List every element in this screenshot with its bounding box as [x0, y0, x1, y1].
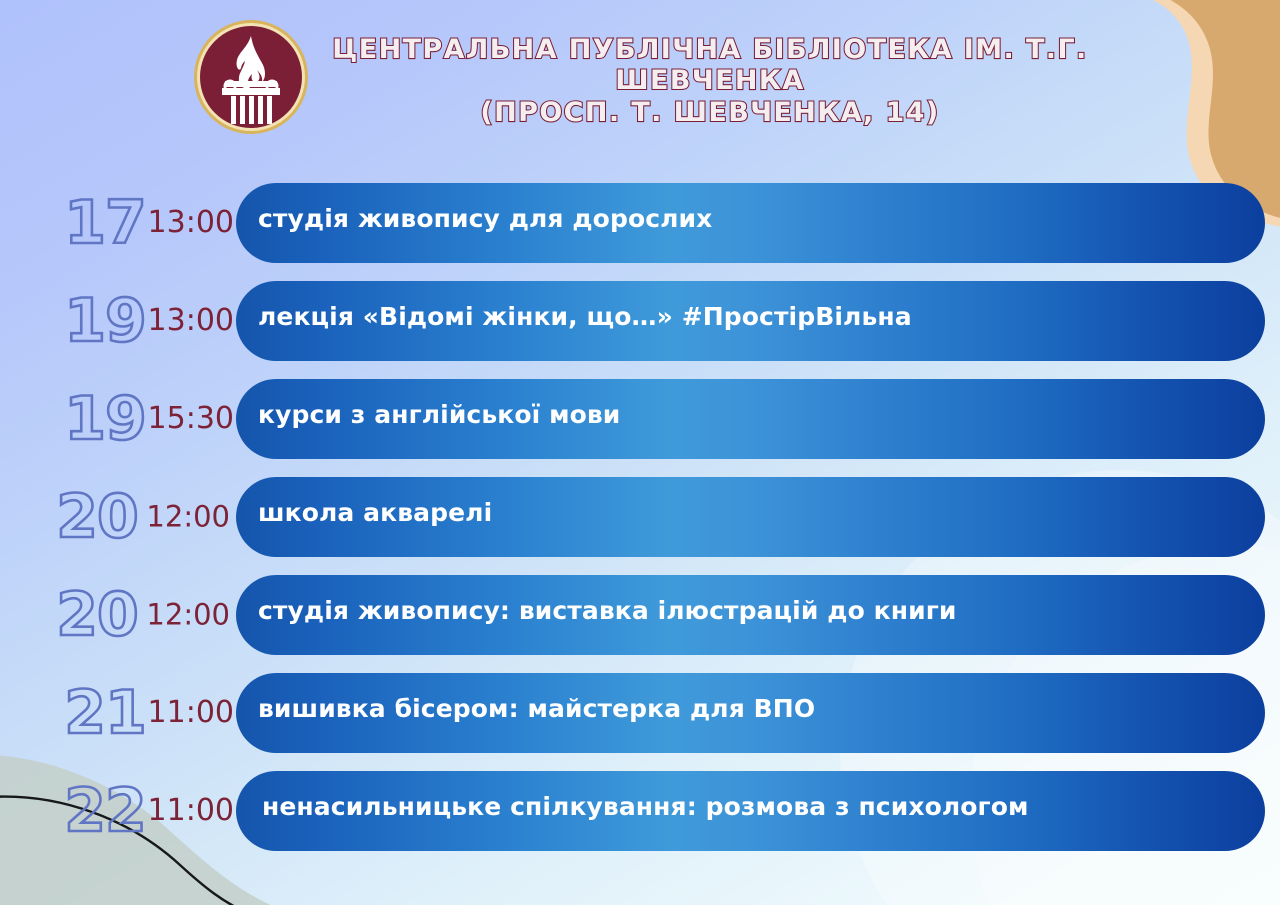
event-title: курси з англійської мови [236, 401, 650, 430]
event-title: лекція «Відомі жінки, що…» #ПростірВільн… [236, 303, 942, 332]
event-time: 11:00 [130, 698, 234, 728]
page-title: ЦЕНТРАЛЬНА ПУБЛІЧНА БІБЛІОТЕКА ІМ. Т.Г. … [332, 34, 1087, 128]
event-pill[interactable]: школа акварелі [236, 477, 1265, 557]
schedule-row[interactable]: 19 15:30 курси з англійської мови [0, 379, 1280, 459]
schedule-row[interactable]: 21 11:00 вишивка бісером: майстерка для … [0, 673, 1280, 753]
page-title-line-1: ЦЕНТРАЛЬНА ПУБЛІЧНА БІБЛІОТЕКА ІМ. Т.Г. [332, 34, 1087, 65]
schedule-row[interactable]: 20 12:00 студія живопису: виставка ілюст… [0, 575, 1280, 655]
library-column-flame-logo-icon [192, 18, 310, 136]
event-title: ненасильницьке спілкування: розмова з пс… [236, 793, 1059, 822]
schedule-row[interactable]: 22 11:00 ненасильницьке спілкування: роз… [0, 771, 1280, 851]
event-time: 11:00 [130, 796, 234, 826]
event-pill[interactable]: студія живопису для дорослих [236, 183, 1265, 263]
event-title: школа акварелі [236, 499, 522, 528]
poster-header: ЦЕНТРАЛЬНА ПУБЛІЧНА БІБЛІОТЕКА ІМ. Т.Г. … [0, 16, 1280, 146]
event-pill[interactable]: курси з англійської мови [236, 379, 1265, 459]
event-title: студія живопису: виставка ілюстрацій до … [236, 597, 986, 626]
event-pill[interactable]: студія живопису: виставка ілюстрацій до … [236, 575, 1265, 655]
event-time: 15:30 [130, 404, 234, 434]
page-title-line-3: (ПРОСП. Т. ШЕВЧЕНКА, 14) [332, 97, 1087, 128]
event-pill[interactable]: ненасильницьке спілкування: розмова з пс… [236, 771, 1265, 851]
event-title: студія живопису для дорослих [236, 205, 742, 234]
schedule-row[interactable]: 19 13:00 лекція «Відомі жінки, що…» #Про… [0, 281, 1280, 361]
event-time: 12:00 [126, 601, 230, 630]
schedule-list: 17 13:00 студія живопису для дорослих 19… [0, 183, 1280, 869]
page-title-line-2: ШЕВЧЕНКА [332, 65, 1087, 96]
event-pill[interactable]: лекція «Відомі жінки, що…» #ПростірВільн… [236, 281, 1265, 361]
schedule-row[interactable]: 20 12:00 школа акварелі [0, 477, 1280, 557]
event-time: 12:00 [126, 503, 230, 532]
event-time: 13:00 [130, 306, 234, 336]
event-title: вишивка бісером: майстерка для ВПО [236, 695, 845, 724]
poster-canvas: ЦЕНТРАЛЬНА ПУБЛІЧНА БІБЛІОТЕКА ІМ. Т.Г. … [0, 0, 1280, 905]
event-time: 13:00 [130, 208, 234, 238]
event-pill[interactable]: вишивка бісером: майстерка для ВПО [236, 673, 1265, 753]
schedule-row[interactable]: 17 13:00 студія живопису для дорослих [0, 183, 1280, 263]
